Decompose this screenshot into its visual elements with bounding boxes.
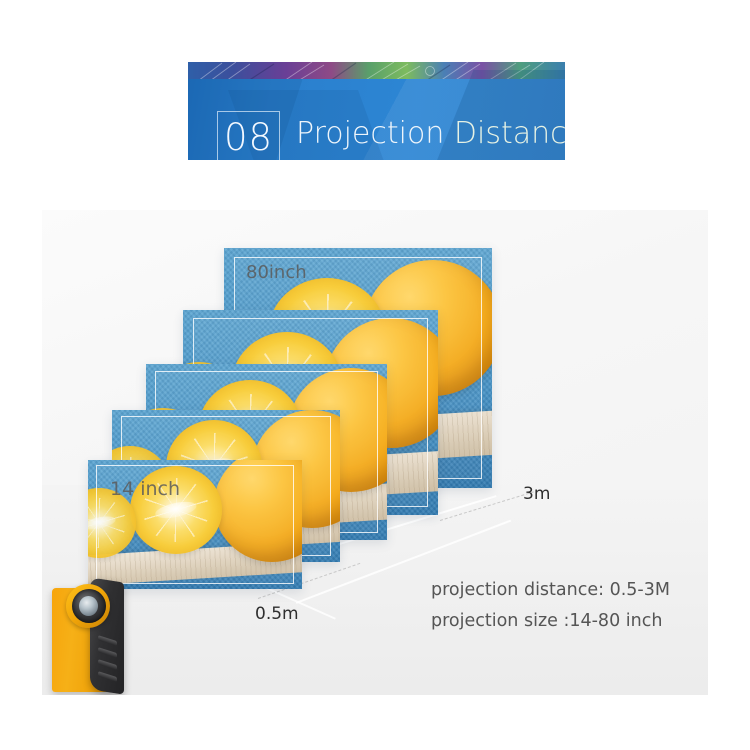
page-root: 08 Projection Distance xyxy=(0,0,750,750)
projection-diagram: 80inch xyxy=(42,210,708,695)
spec-projection-distance: projection distance: 0.5-3M xyxy=(431,575,670,606)
screen-label-14inch: 14 inch xyxy=(110,478,180,500)
banner-number-box: 08 xyxy=(217,111,280,160)
projector-device xyxy=(50,578,146,695)
banner-number: 08 xyxy=(224,119,273,156)
measure-label-far: 3m xyxy=(523,484,550,504)
screen-label-80inch: 80inch xyxy=(246,262,307,283)
spec-text-block: projection distance: 0.5-3M projection s… xyxy=(431,575,670,637)
banner-body: 08 Projection Distance xyxy=(188,79,565,160)
projector-vent-4 xyxy=(98,671,117,682)
spec-projection-size: projection size :14-80 inch xyxy=(431,606,670,637)
banner-title-word-projection: Projection xyxy=(296,116,454,151)
banner-title: Projection Distance xyxy=(296,117,565,150)
projector-vent-3 xyxy=(98,659,117,670)
projector-vent-1 xyxy=(98,635,117,646)
screen-14inch: 14 inch xyxy=(88,460,302,589)
section-banner: 08 Projection Distance xyxy=(188,62,565,160)
projector-lens-glass xyxy=(79,596,98,616)
measure-label-near: 0.5m xyxy=(255,604,299,624)
banner-title-word-distance: Distance xyxy=(454,116,565,151)
projector-vent-2 xyxy=(98,647,117,658)
